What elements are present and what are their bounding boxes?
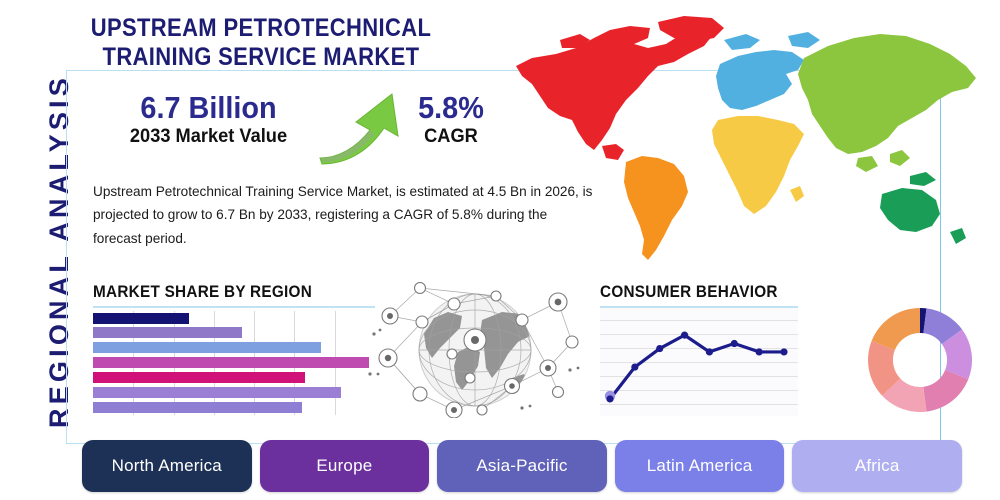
growth-arrow-icon xyxy=(314,86,406,166)
donut-svg xyxy=(864,304,976,416)
line-chart-point xyxy=(756,348,763,355)
bar-chart-bar xyxy=(93,357,369,368)
market-value-label: 2033 Market Value xyxy=(101,126,317,148)
region-button-north-america[interactable]: North America xyxy=(82,440,252,492)
cagr-label: CAGR xyxy=(398,126,504,148)
regional-analysis-side-label: REGIONAL ANALYSIS xyxy=(37,41,81,461)
cagr-number: 5.8% xyxy=(400,92,502,125)
region-button-asia-pacific[interactable]: Asia-Pacific xyxy=(437,440,607,492)
bar-chart-bar xyxy=(93,313,189,324)
market-value-number: 6.7 Billion xyxy=(104,92,313,125)
line-chart-point xyxy=(606,395,613,402)
bar-chart-bar xyxy=(93,387,341,398)
line-chart-point xyxy=(731,340,738,347)
bar-chart-bar xyxy=(93,327,242,338)
infographic-root: REGIONAL ANALYSIS UPSTREAM PETROTECHNICA… xyxy=(0,0,1000,500)
consumer-behavior-title: CONSUMER BEHAVIOR xyxy=(600,282,778,302)
line-chart-series xyxy=(600,308,798,416)
market-share-title: MARKET SHARE BY REGION xyxy=(93,282,347,302)
key-stats: 6.7 Billion 2033 Market Value 5.8% CAGR xyxy=(96,92,496,164)
consumer-behavior-line-chart xyxy=(600,308,798,416)
region-button-row: North AmericaEuropeAsia-PacificLatin Ame… xyxy=(82,440,962,492)
bar-chart-bars xyxy=(93,311,375,415)
region-donut-chart xyxy=(864,304,976,416)
market-share-bar-chart xyxy=(93,311,375,415)
market-value-stat: 6.7 Billion 2033 Market Value xyxy=(96,92,321,147)
market-share-underline xyxy=(93,306,375,308)
line-chart-point xyxy=(631,363,638,370)
global-network-icon xyxy=(362,282,588,418)
cagr-stat: 5.8% CAGR xyxy=(396,92,506,147)
line-chart-point xyxy=(681,332,688,339)
market-description: Upstream Petrotechnical Training Service… xyxy=(93,180,593,250)
region-button-europe[interactable]: Europe xyxy=(260,440,430,492)
page-title: UPSTREAM PETROTECHNICAL TRAINING SERVICE… xyxy=(56,14,466,72)
bar-chart-bar xyxy=(93,402,302,413)
market-share-section-header: MARKET SHARE BY REGION xyxy=(93,282,375,308)
bar-chart-bar xyxy=(93,372,305,383)
line-chart-point xyxy=(706,348,713,355)
bar-chart-bar xyxy=(93,342,321,353)
consumer-behavior-section-header: CONSUMER BEHAVIOR xyxy=(600,282,798,308)
region-button-africa[interactable]: Africa xyxy=(792,440,962,492)
region-button-latin-america[interactable]: Latin America xyxy=(615,440,785,492)
line-chart-point xyxy=(656,345,663,352)
line-chart-point xyxy=(780,348,787,355)
